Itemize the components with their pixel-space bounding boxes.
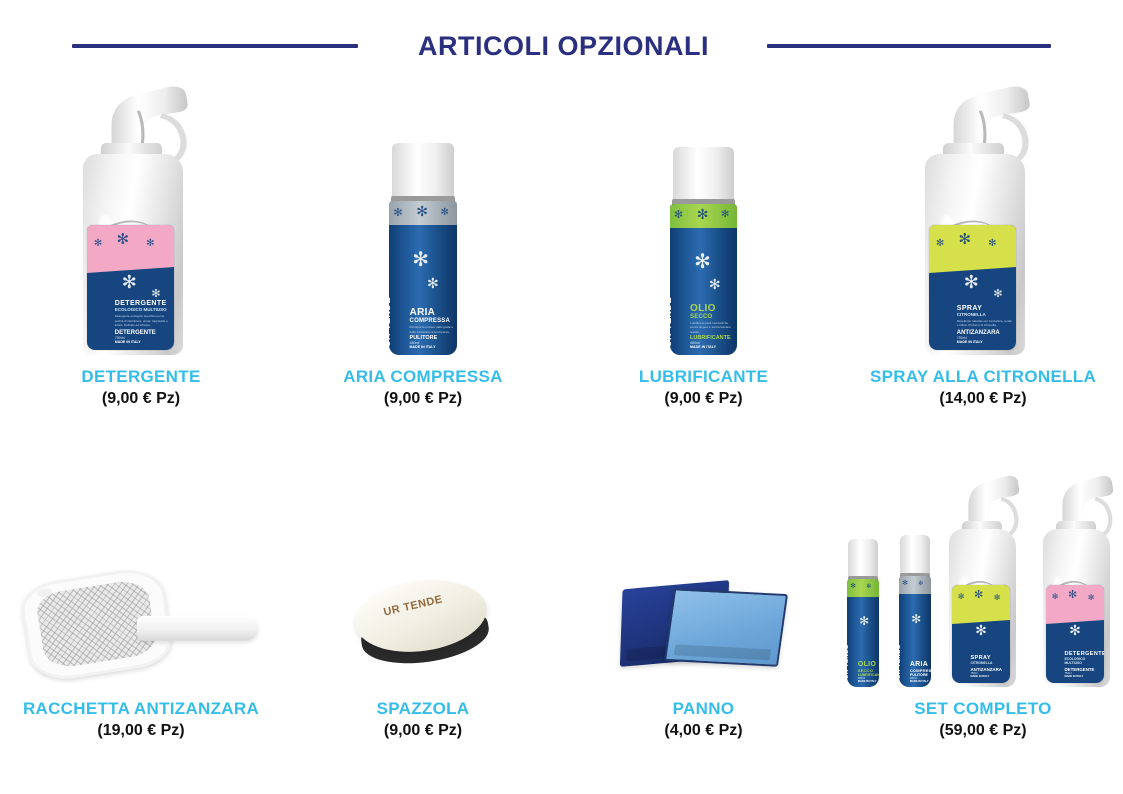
- mosquito-icon: ✻: [674, 208, 683, 221]
- product-name: DETERGENTE: [81, 367, 200, 387]
- label-sub: CITRONELLA: [957, 312, 1013, 317]
- product-card-aria-compressa[interactable]: ✻ ✻ ✻ ✻ ✻ UR TENDE ARIA COMPRESSA Rimuov…: [282, 78, 564, 408]
- label-made-in: MADE IN ITALY: [115, 340, 171, 344]
- mosquito-icon: ✻: [440, 207, 448, 218]
- mosquito-icon: ✻: [964, 272, 979, 293]
- label-band: ✻ ✻ ✻: [929, 225, 1016, 263]
- label-made-in: MADE IN ITALY: [858, 680, 879, 683]
- label-made-in: MADE IN ITALY: [1064, 675, 1101, 678]
- mosquito-icon: ✻: [1052, 592, 1059, 601]
- product-image-racchetta: [25, 440, 257, 687]
- mosquito-icon: ✻: [859, 614, 869, 628]
- product-price: (9,00 € Pz): [639, 390, 768, 408]
- mosquito-icon: ✻: [721, 209, 729, 220]
- label-body: Rimuove la polvere dalle guide e dalle z…: [410, 325, 454, 334]
- mosquito-icon: ✻: [993, 287, 1002, 300]
- caption-detergente: DETERGENTE (9,00 € Pz): [81, 367, 200, 408]
- set-item-spray: ✻ ✻ ✻ ✻ UR TENDE SPRAY CITRONELLA ANTIZA…: [944, 473, 1032, 687]
- header-rule-right: [767, 44, 1051, 48]
- mosquito-icon: ✻: [151, 287, 160, 300]
- product-image-lubrificante: ✻ ✻ ✻ ✻ ✻ UR TENDE OLIO SECCO Lubrifica …: [656, 80, 752, 355]
- product-card-spray-citronella[interactable]: ✻ ✻ ✻ ✻ ✻ UR TENDE SPRAY CITRONELLA Repe…: [843, 78, 1123, 408]
- set-item-olio: ✻ ✻ ✻ UR TENDE OLIO SECCO LUBRIFICANTE 4…: [840, 539, 886, 687]
- brand-logo: UR TENDE: [847, 645, 850, 680]
- product-name: SPRAY ALLA CITRONELLA: [870, 367, 1096, 387]
- mosquito-icon: ✻: [427, 275, 439, 292]
- can-cap: [900, 535, 929, 575]
- mosquito-icon: ✻: [994, 593, 1001, 602]
- cloth-light: [664, 588, 788, 666]
- label-made-in: MADE IN ITALY: [910, 680, 931, 683]
- mosquito-icon: ✻: [412, 247, 429, 272]
- brand-logo: UR TENDE: [389, 297, 392, 347]
- label-sub: ECOLOGICO MULTIUSO: [115, 307, 171, 312]
- set-item-detergente: ✻ ✻ ✻ ✻ UR TENDE DETERGENTE ECOLOGICO MU…: [1038, 473, 1123, 687]
- mosquito-icon: ✻: [1069, 622, 1081, 639]
- can-cap: [392, 143, 453, 198]
- mosquito-icon: ✻: [94, 238, 102, 249]
- mosquito-icon: ✻: [694, 249, 711, 274]
- mosquito-icon: ✻: [116, 230, 129, 248]
- caption-lubrificante: LUBRIFICANTE (9,00 € Pz): [639, 367, 768, 408]
- product-card-panno[interactable]: PANNO (4,00 € Pz): [564, 440, 843, 740]
- label-main: OLIO: [858, 661, 879, 668]
- caption-panno: PANNO (4,00 € Pz): [664, 699, 742, 740]
- caption-spray-citronella: SPRAY ALLA CITRONELLA (14,00 € Pz): [870, 367, 1096, 408]
- label-made-in: MADE IN ITALY: [970, 675, 1007, 678]
- can-cap: [673, 147, 734, 201]
- product-image-panno: [618, 440, 790, 687]
- caption-aria-compressa: ARIA COMPRESSA (9,00 € Pz): [343, 367, 502, 408]
- brand-logo: UR TENDE: [952, 637, 954, 677]
- racket-handle: [137, 616, 258, 641]
- label-made-in: MADE IN ITALY: [410, 345, 454, 349]
- mosquito-icon: ✻: [1088, 593, 1095, 602]
- cloth-fold: [673, 644, 771, 660]
- product-name: SET COMPLETO: [914, 699, 1051, 719]
- label-main: ARIA: [910, 661, 931, 668]
- product-row-bottom: RACCHETTA ANTIZANZARA (19,00 € Pz) UR TE…: [0, 440, 1123, 740]
- product-card-set-completo[interactable]: ✻ ✻ ✻ UR TENDE OLIO SECCO LUBRIFICANTE 4…: [843, 440, 1123, 740]
- label-band: ✻ ✻ ✻: [389, 201, 456, 226]
- product-card-detergente[interactable]: ✻ ✻ ✻ ✻ ✻ UR TENDE DETERGENTE ECOLOGICO …: [0, 78, 282, 408]
- mosquito-icon: ✻: [393, 206, 402, 219]
- product-image-spazzola: UR TENDE: [352, 440, 494, 687]
- microfiber-cloths-icon: [618, 577, 790, 673]
- page-title: ARTICOLI OPZIONALI: [418, 31, 709, 62]
- label-sub: CITRONELLA: [970, 661, 1007, 665]
- product-price: (4,00 € Pz): [664, 722, 742, 740]
- label-body: Repellente naturale per zanzariere, tend…: [957, 319, 1013, 328]
- label-made-in: MADE IN ITALY: [690, 345, 734, 349]
- can-body: ✻ ✻ ✻ UR TENDE ARIA COMPRESSA PULITORE 4…: [899, 576, 931, 687]
- mosquito-racket-icon: [17, 546, 265, 699]
- mosquito-icon: ✻: [146, 238, 154, 249]
- product-price: (9,00 € Pz): [81, 390, 200, 408]
- mosquito-icon: ✻: [850, 582, 856, 590]
- mosquito-icon: ✻: [866, 583, 871, 590]
- can-body: ✻ ✻ ✻ ✻ ✻ UR TENDE OLIO SECCO Lubrifica …: [670, 204, 737, 356]
- label-band: ✻ ✻ ✻: [87, 225, 174, 263]
- can-body: ✻ ✻ ✻ ✻ ✻ UR TENDE ARIA COMPRESSA Rimuov…: [389, 201, 456, 356]
- mosquito-icon: ✻: [974, 588, 983, 601]
- label-made-in: MADE IN ITALY: [957, 340, 1013, 344]
- label-band: ✻ ✻: [899, 576, 931, 594]
- catalog-page: ARTICOLI OPZIONALI: [0, 0, 1123, 794]
- product-card-racchetta[interactable]: RACCHETTA ANTIZANZARA (19,00 € Pz): [0, 440, 282, 740]
- mosquito-icon: ✻: [122, 272, 137, 293]
- label-main: OLIO: [690, 303, 734, 314]
- bottle-label-detergente: ✻ ✻ ✻ ✻ UR TENDE DETERGENTE ECOLOGICO MU…: [1046, 585, 1104, 683]
- mosquito-icon: ✻: [958, 230, 971, 248]
- product-name: PANNO: [664, 699, 742, 719]
- label-main: SPRAY: [957, 305, 1013, 312]
- mosquito-icon: ✻: [958, 592, 965, 601]
- product-image-spray-citronella: ✻ ✻ ✻ ✻ ✻ UR TENDE SPRAY CITRONELLA Repe…: [917, 80, 1049, 355]
- product-image-aria-compressa: ✻ ✻ ✻ ✻ ✻ UR TENDE ARIA COMPRESSA Rimuov…: [375, 80, 471, 355]
- brand-logo: UR TENDE: [670, 297, 673, 347]
- label-body: Lubrifica le parti meccaniche senza unge…: [690, 321, 734, 335]
- bottle-label-spray-citronella: ✻ ✻ ✻ ✻ ✻ UR TENDE SPRAY CITRONELLA Repe…: [929, 225, 1016, 350]
- caption-set-completo: SET COMPLETO (59,00 € Pz): [914, 699, 1051, 740]
- caption-racchetta: RACCHETTA ANTIZANZARA (19,00 € Pz): [23, 699, 259, 740]
- mosquito-icon: ✻: [988, 238, 996, 249]
- product-name: SPAZZOLA: [377, 699, 470, 719]
- label-band: ✻ ✻ ✻: [670, 204, 737, 228]
- mosquito-icon: ✻: [902, 579, 908, 587]
- set-item-aria: ✻ ✻ ✻ UR TENDE ARIA COMPRESSA PULITORE 4…: [892, 535, 938, 687]
- product-row-top: ✻ ✻ ✻ ✻ ✻ UR TENDE DETERGENTE ECOLOGICO …: [0, 78, 1123, 408]
- header-rule-left: [72, 44, 358, 48]
- set-group: ✻ ✻ ✻ UR TENDE OLIO SECCO LUBRIFICANTE 4…: [840, 449, 1123, 687]
- product-price: (19,00 € Pz): [23, 722, 259, 740]
- section-header: ARTICOLI OPZIONALI: [0, 26, 1123, 66]
- label-sub: ECOLOGICO MULTIUSO: [1064, 657, 1101, 665]
- product-price: (9,00 € Pz): [343, 390, 502, 408]
- product-name: LUBRIFICANTE: [639, 367, 768, 387]
- product-image-set-completo: ✻ ✻ ✻ UR TENDE OLIO SECCO LUBRIFICANTE 4…: [840, 440, 1123, 687]
- product-card-spazzola[interactable]: UR TENDE SPAZZOLA (9,00 € Pz): [282, 440, 564, 740]
- bottle-label-detergente: ✻ ✻ ✻ ✻ ✻ UR TENDE DETERGENTE ECOLOGICO …: [87, 225, 174, 350]
- mosquito-icon: ✻: [416, 203, 428, 220]
- product-name: ARIA COMPRESSA: [343, 367, 502, 387]
- label-main: DETERGENTE: [115, 300, 171, 307]
- bottle-label-spray: ✻ ✻ ✻ ✻ UR TENDE SPRAY CITRONELLA ANTIZA…: [952, 585, 1010, 683]
- brand-logo: UR TENDE: [87, 294, 89, 344]
- product-card-lubrificante[interactable]: ✻ ✻ ✻ ✻ ✻ UR TENDE OLIO SECCO Lubrifica …: [564, 78, 843, 408]
- brand-logo: UR TENDE: [899, 645, 902, 680]
- product-price: (14,00 € Pz): [870, 390, 1096, 408]
- product-price: (9,00 € Pz): [377, 722, 470, 740]
- label-band: ✻ ✻: [847, 579, 879, 596]
- product-name: RACCHETTA ANTIZANZARA: [23, 699, 259, 719]
- mosquito-icon: ✻: [936, 238, 944, 249]
- mosquito-icon: ✻: [697, 206, 709, 223]
- mosquito-icon: ✻: [1068, 588, 1077, 601]
- can-cap: [848, 539, 877, 577]
- label-sub: SECCO: [690, 314, 734, 320]
- caption-spazzola: SPAZZOLA (9,00 € Pz): [377, 699, 470, 740]
- label-band: ✻ ✻ ✻: [1046, 585, 1104, 615]
- can-body: ✻ ✻ ✻ UR TENDE OLIO SECCO LUBRIFICANTE 4…: [847, 579, 879, 687]
- label-main: ARIA: [410, 307, 454, 318]
- brand-logo: UR TENDE: [1046, 637, 1048, 677]
- mosquito-icon: ✻: [911, 612, 921, 626]
- label-body: Detergente ecologico specifico per la pu…: [115, 314, 171, 328]
- mosquito-icon: ✻: [709, 276, 721, 293]
- label-band: ✻ ✻ ✻: [952, 585, 1010, 615]
- mosquito-icon: ✻: [918, 580, 923, 587]
- product-image-detergente: ✻ ✻ ✻ ✻ ✻ UR TENDE DETERGENTE ECOLOGICO …: [75, 80, 207, 355]
- brush-icon: UR TENDE: [352, 577, 494, 669]
- mosquito-icon: ✻: [975, 622, 987, 639]
- brand-logo: UR TENDE: [929, 294, 931, 344]
- label-sub: COMPRESSA: [410, 318, 454, 324]
- product-price: (59,00 € Pz): [914, 722, 1051, 740]
